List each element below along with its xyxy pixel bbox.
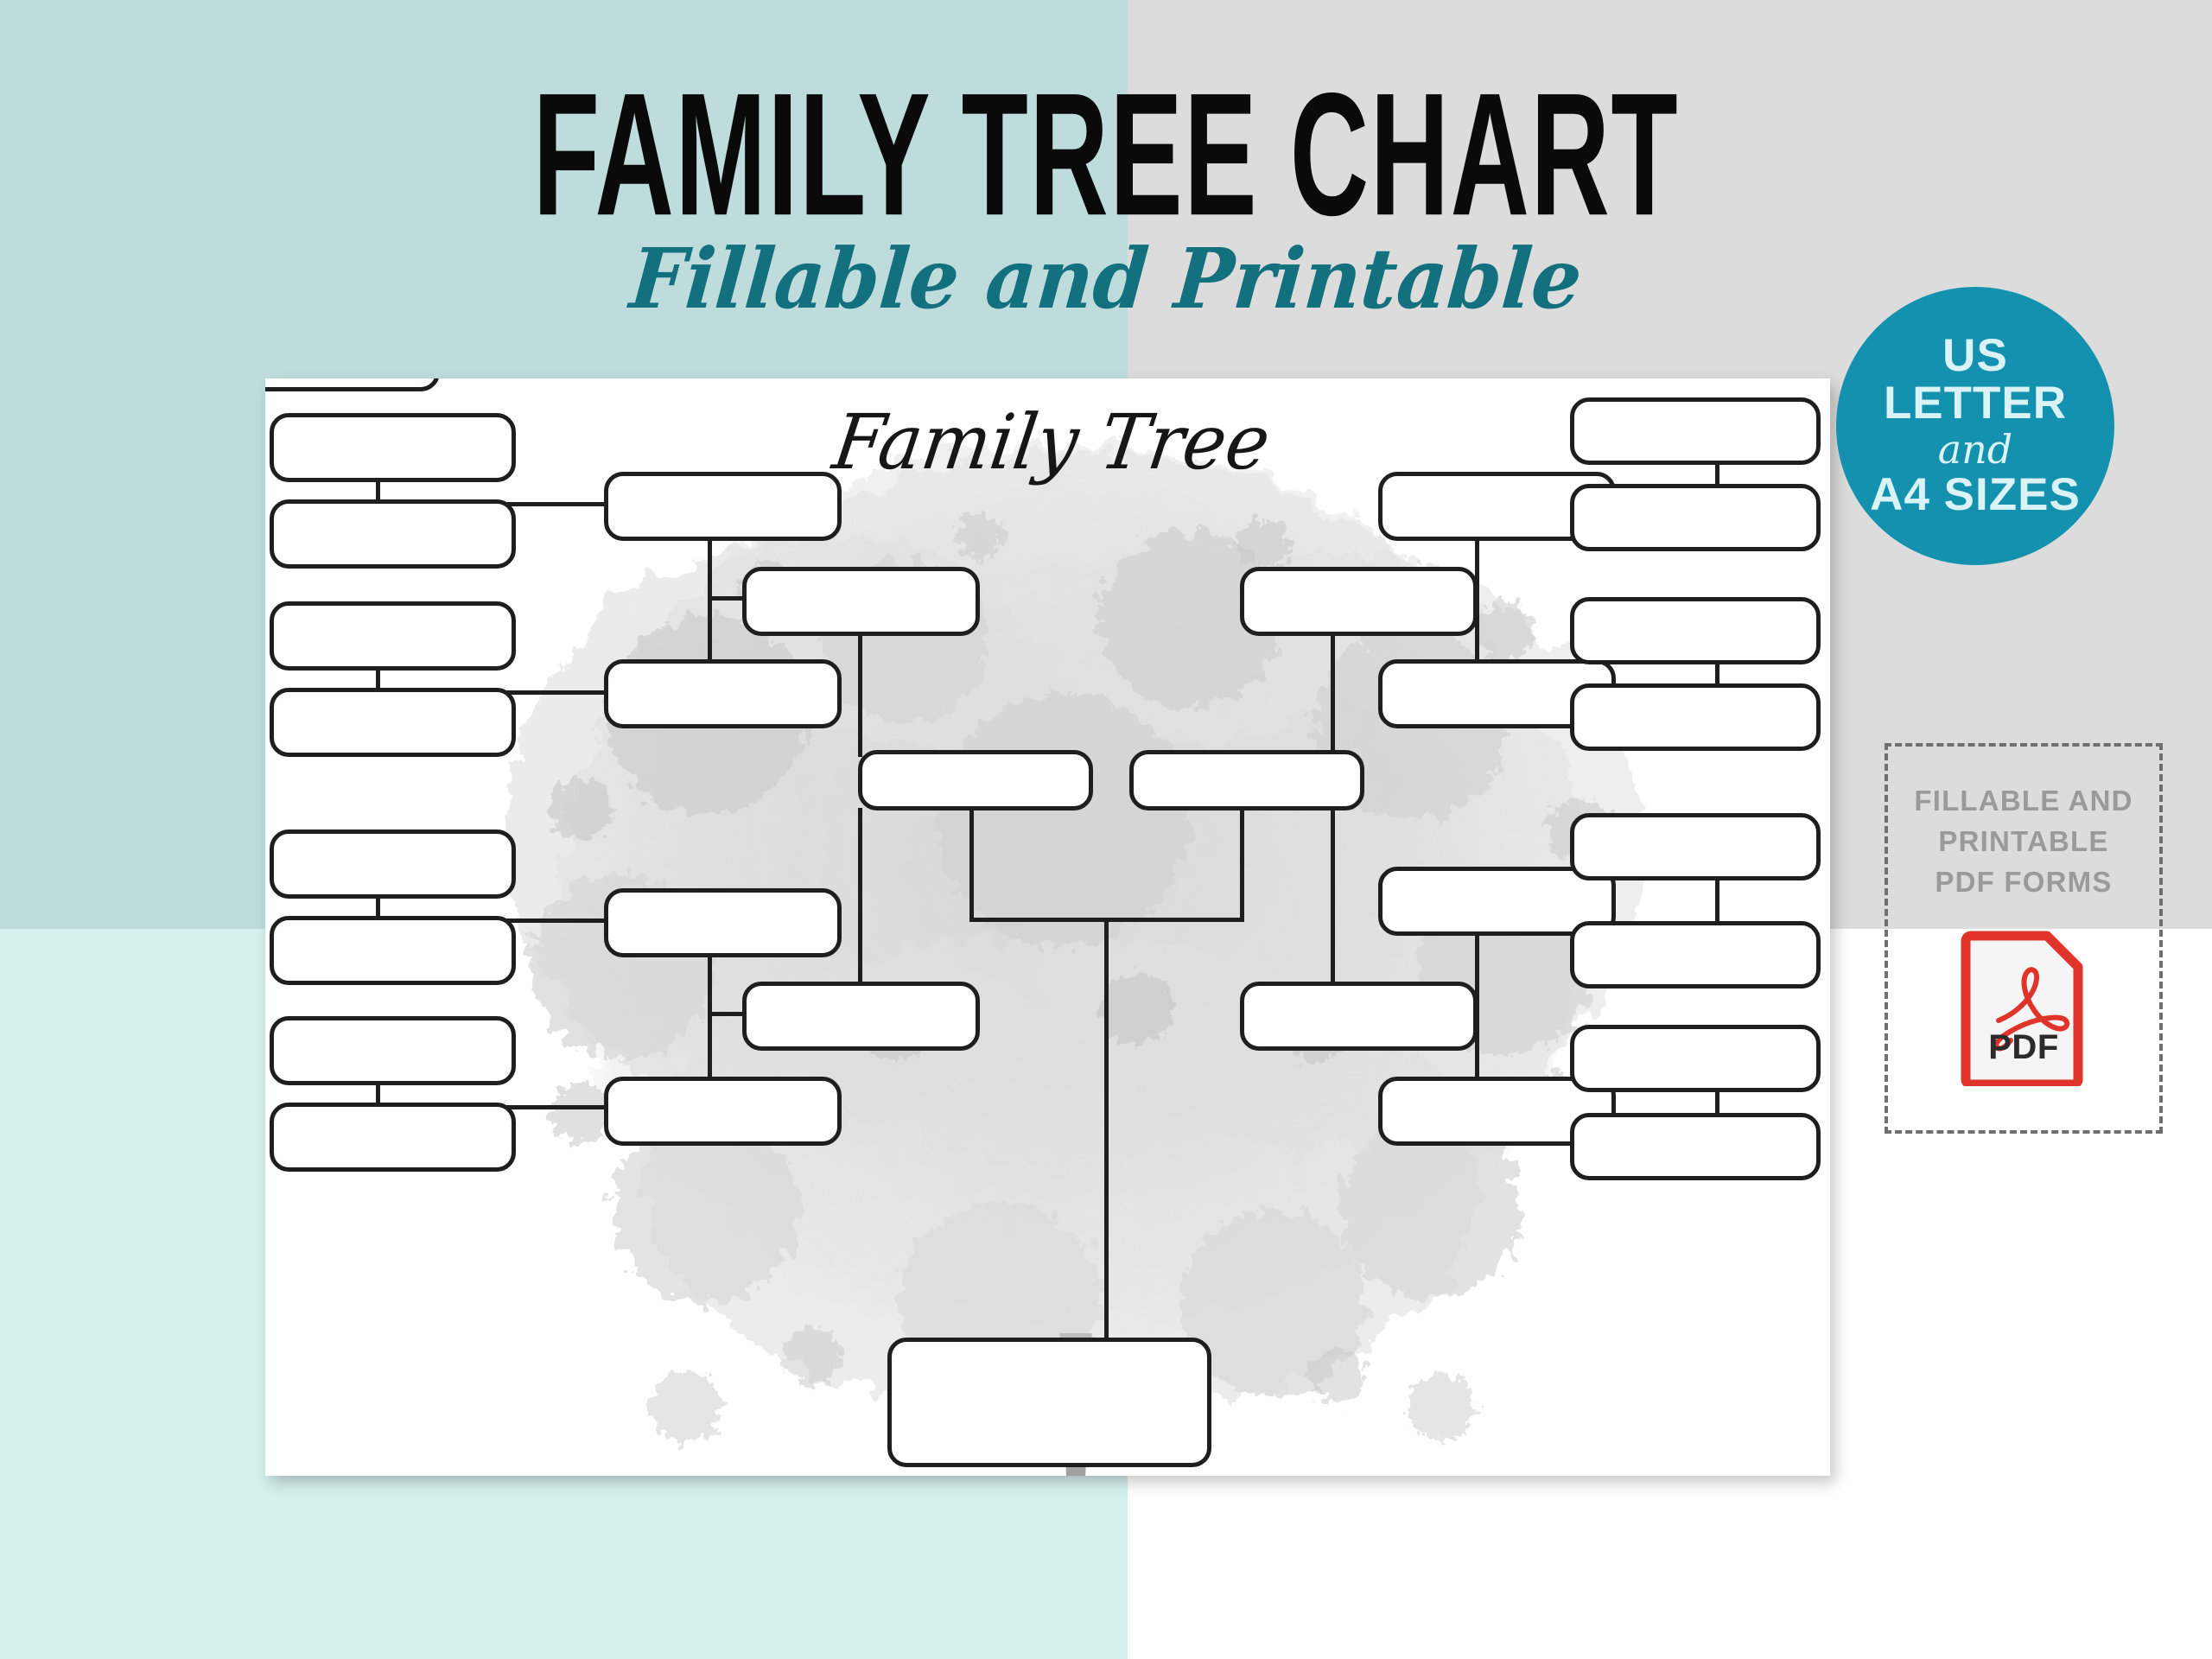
page-title: FAMILY TREE CHART bbox=[221, 67, 1991, 242]
tree-box-right-gg-7[interactable] bbox=[1570, 1025, 1821, 1092]
tree-box-left-gg-5[interactable] bbox=[270, 829, 516, 899]
connector-left-v-5 bbox=[708, 538, 712, 664]
tree-box-left-g-3[interactable] bbox=[604, 888, 842, 957]
tree-box-left-gg-4[interactable] bbox=[270, 688, 516, 757]
chart-title: Family Tree bbox=[759, 404, 1344, 480]
tree-box-father[interactable] bbox=[858, 750, 1093, 810]
tree-box-mother[interactable] bbox=[1129, 750, 1364, 810]
tree-box-right-gg-4[interactable] bbox=[1570, 683, 1821, 751]
tree-box-left-gg-3[interactable] bbox=[270, 601, 516, 671]
tree-box-right-p-2[interactable] bbox=[1240, 982, 1478, 1051]
connector-left-h-5 bbox=[708, 596, 746, 601]
tree-box-left-gg-1[interactable] bbox=[270, 413, 516, 482]
pdf-forms-panel: FILLABLE AND PRINTABLE PDF FORMS PDF bbox=[1885, 743, 2163, 1134]
tree-box-left-gg-7[interactable] bbox=[270, 1016, 516, 1085]
tree-box-left-g-1[interactable] bbox=[604, 472, 842, 541]
family-tree-preview-card: Family Tree bbox=[265, 378, 1830, 1476]
tree-box-left-p-2[interactable] bbox=[742, 982, 980, 1051]
tree-box-right-p-1[interactable] bbox=[1240, 567, 1478, 636]
tree-box-left-g-2[interactable] bbox=[604, 659, 842, 728]
tree-box-right-gg-1[interactable] bbox=[1570, 397, 1821, 465]
pdf-panel-line-2: PRINTABLE bbox=[1938, 822, 2108, 862]
connector-right-v-3 bbox=[1715, 878, 1719, 925]
connector-root-stem bbox=[1104, 918, 1109, 1341]
connector-left-h-6 bbox=[708, 1012, 746, 1016]
tree-box-root-self[interactable] bbox=[887, 1338, 1211, 1467]
tree-box-right-gg-8[interactable] bbox=[1570, 1113, 1821, 1180]
pdf-icon-label: PDF bbox=[1959, 1028, 2088, 1067]
screenshot-root: FAMILY TREE CHART Fillable and Printable bbox=[0, 0, 2212, 1659]
tree-box-L-gg1[interactable] bbox=[265, 378, 440, 391]
page-subtitle: Fillable and Printable bbox=[63, 238, 2149, 321]
badge-line-2: LETTER bbox=[1884, 380, 2067, 427]
connector-mother-down bbox=[1240, 808, 1244, 920]
connector-right-v-7 bbox=[1331, 633, 1335, 757]
connector-left-v-6 bbox=[708, 954, 712, 1080]
tree-box-right-gg-3[interactable] bbox=[1570, 597, 1821, 664]
tree-box-left-gg-8[interactable] bbox=[270, 1103, 516, 1172]
connector-father-down bbox=[969, 808, 974, 920]
badge-line-1: US bbox=[1942, 333, 2008, 379]
tree-box-right-gg-6[interactable] bbox=[1570, 921, 1821, 988]
badge-line-4: A4 SIZES bbox=[1870, 472, 2081, 518]
tree-box-right-gg-5[interactable] bbox=[1570, 813, 1821, 880]
size-badge: US LETTER and A4 SIZES bbox=[1836, 287, 2114, 565]
tree-box-left-gg-6[interactable] bbox=[270, 916, 516, 985]
connector-left-v-8 bbox=[858, 808, 862, 984]
pdf-file-icon: PDF bbox=[1959, 929, 2088, 1086]
pdf-panel-line-3: PDF FORMS bbox=[1935, 862, 2112, 903]
tree-box-left-p-1[interactable] bbox=[742, 567, 980, 636]
connector-left-v-7 bbox=[858, 633, 862, 757]
tree-box-right-gg-2[interactable] bbox=[1570, 484, 1821, 551]
pdf-panel-line-1: FILLABLE AND bbox=[1914, 781, 2133, 822]
tree-box-left-gg-2[interactable] bbox=[270, 499, 516, 569]
connector-right-v-4 bbox=[1715, 1090, 1719, 1116]
badge-line-3: and bbox=[1938, 427, 2013, 473]
connector-right-v-8 bbox=[1331, 808, 1335, 984]
tree-box-left-g-4[interactable] bbox=[604, 1077, 842, 1146]
